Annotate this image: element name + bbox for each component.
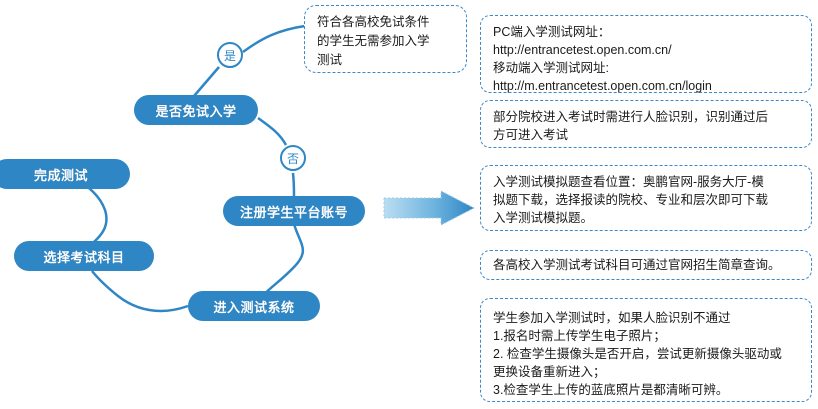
note-urls-line-4: http://m.entrancetest.open.com.cn/login bbox=[493, 77, 801, 95]
callout-line-1: 符合各高校免试条件 bbox=[317, 13, 456, 32]
note-face-recognition-line-2: 方可进入考试 bbox=[493, 126, 801, 144]
node-decision-label: 是否免试入学 bbox=[155, 101, 236, 120]
note-urls-line-3: 移动端入学测试网址: bbox=[493, 59, 801, 77]
note-urls-line-2: http://entrancetest.open.com.cn/ bbox=[493, 41, 801, 59]
node-register[interactable]: 注册学生平台账号 bbox=[223, 196, 365, 226]
node-enter-system-label: 进入测试系统 bbox=[213, 297, 294, 316]
branch-label-no-text: 否 bbox=[287, 150, 299, 167]
edge-no-to-register bbox=[293, 173, 294, 196]
note-face-fail-line-4: 更换设备重新进入； bbox=[493, 363, 801, 381]
note-subjects-line-1: 各高校入学测试考试科目可通过官网招生简章查询。 bbox=[493, 256, 801, 274]
node-choose-subject-label: 选择考试科目 bbox=[43, 247, 124, 266]
node-decision[interactable]: 是否免试入学 bbox=[134, 95, 258, 125]
branch-label-yes-text: 是 bbox=[224, 47, 236, 64]
note-urls: PC端入学测试网址： http://entrancetest.open.com.… bbox=[480, 15, 812, 93]
edge-register-to-enter bbox=[260, 224, 303, 300]
note-face-fail-line-2: 1.报名时需上传学生电子照片； bbox=[493, 327, 801, 345]
note-face-fail-line-3: 2. 检查学生摄像头是否开启，尝试更新摄像头驱动或 bbox=[493, 345, 801, 363]
note-face-fail-line-1: 学生参加入学测试时，如果人脸识别不通过 bbox=[493, 309, 801, 327]
edge-enter-to-choose bbox=[92, 271, 188, 311]
node-choose-subject[interactable]: 选择考试科目 bbox=[14, 241, 154, 271]
callout-line-3: 测试 bbox=[317, 51, 456, 70]
edge-choose-to-finish bbox=[78, 181, 106, 248]
branch-label-yes: 是 bbox=[217, 42, 243, 68]
edge-yes-to-callout bbox=[243, 26, 305, 52]
exemption-callout: 符合各高校免试条件 的学生无需参加入学 测试 bbox=[304, 5, 467, 73]
note-face-recognition: 部分院校进入考试时需进行人脸识别，识别通过后 方可进入考试 bbox=[480, 100, 812, 148]
node-finish-test-label: 完成测试 bbox=[34, 165, 88, 184]
node-register-label: 注册学生平台账号 bbox=[240, 202, 348, 221]
note-subjects: 各高校入学测试考试科目可通过官网招生简章查询。 bbox=[480, 250, 812, 280]
flow-to-notes-arrow bbox=[383, 190, 475, 226]
edge-decision-to-no bbox=[258, 118, 286, 145]
note-face-fail-line-5: 3.检查学生上传的蓝底照片是都清晰可辨。 bbox=[493, 381, 801, 399]
branch-label-no: 否 bbox=[280, 145, 306, 171]
note-mock-questions: 入学测试模拟题查看位置：奥鹏官网-服务大厅-模 拟题下载，选择报读的院校、专业和… bbox=[480, 165, 812, 231]
note-urls-line-1: PC端入学测试网址： bbox=[493, 23, 801, 41]
note-mock-questions-line-3: 入学测试模拟题。 bbox=[493, 209, 801, 227]
node-finish-test[interactable]: 完成测试 bbox=[0, 159, 130, 189]
note-face-fail: 学生参加入学测试时，如果人脸识别不通过 1.报名时需上传学生电子照片； 2. 检… bbox=[480, 298, 812, 402]
note-mock-questions-line-1: 入学测试模拟题查看位置：奥鹏官网-服务大厅-模 bbox=[493, 173, 801, 191]
diagram-canvas: 是否免试入学 注册学生平台账号 进入测试系统 选择考试科目 完成测试 是 否 符… bbox=[0, 0, 818, 409]
node-enter-system[interactable]: 进入测试系统 bbox=[188, 291, 320, 321]
note-mock-questions-line-2: 拟题下载，选择报读的院校、专业和层次即可下载 bbox=[493, 191, 801, 209]
callout-line-2: 的学生无需参加入学 bbox=[317, 32, 456, 51]
note-face-recognition-line-1: 部分院校进入考试时需进行人脸识别，识别通过后 bbox=[493, 108, 801, 126]
